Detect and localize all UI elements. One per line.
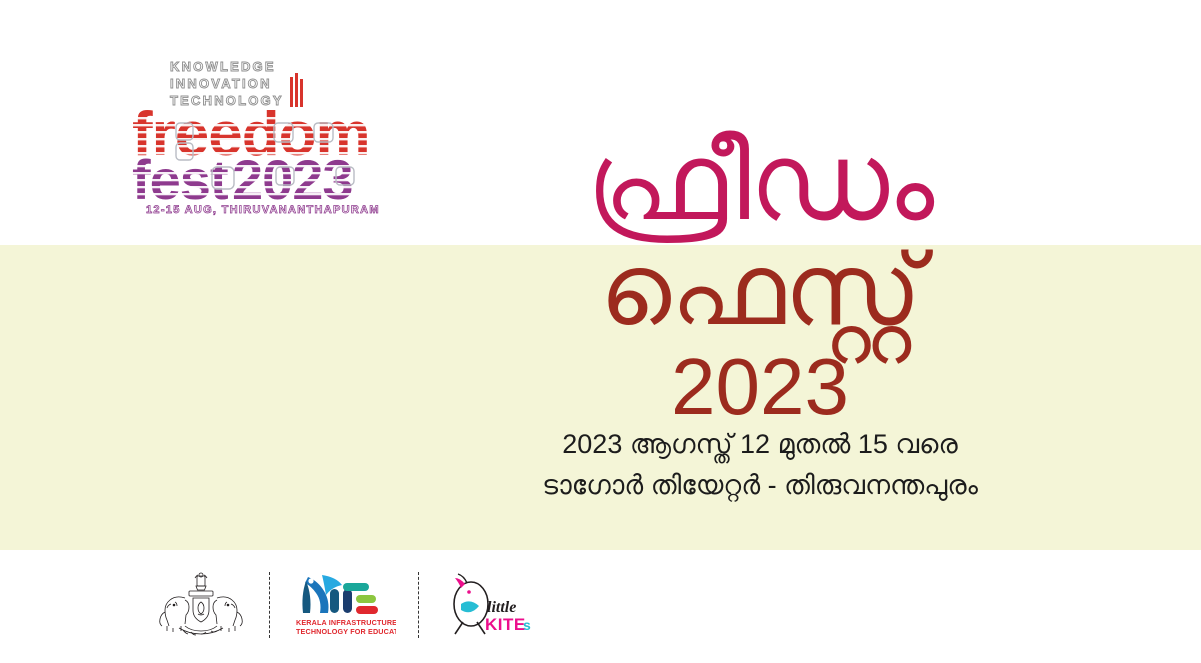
footer-divider-1 — [269, 572, 270, 638]
little-kites-text-little: little — [487, 599, 516, 616]
title-year: 2023 — [450, 347, 1070, 427]
kerala-government-emblem-logo — [155, 569, 247, 641]
logo-tagline-knowledge: KNOWLEDGE — [170, 59, 276, 74]
little-kites-text-kite: KITE — [485, 615, 526, 634]
emblem-wreath-base — [179, 626, 223, 635]
emblem-elephant-left — [160, 597, 189, 632]
freedom-fest-logo: KNOWLEDGE INNOVATION TECHNOLOGY freedom — [124, 55, 408, 217]
kite-tagline-line2: TECHNOLOGY FOR EDUCATION — [296, 627, 396, 636]
footer-divider-2 — [418, 572, 419, 638]
little-kites-text-s: s — [523, 617, 531, 633]
kite-logo: KERALA INFRASTRUCTURE AND TECHNOLOGY FOR… — [292, 569, 396, 641]
little-kites-bird-icon — [454, 574, 488, 634]
title-line-freedom: ഫ്രീഡം — [450, 128, 1070, 236]
logo-wordmark-fest-2023: fest 2023 — [132, 148, 382, 211]
emblem-elephant-right — [213, 597, 242, 632]
emblem-central-shield — [193, 598, 209, 622]
subtitle-dates: 2023 ആഗസ്ത് 12 മുതൽ 15 വരെ — [450, 424, 1070, 465]
logo-tagline-innovation: INNOVATION — [170, 76, 272, 91]
emblem-motto-band — [189, 591, 213, 596]
kite-bars-mark — [330, 583, 378, 614]
subtitle-venue: ടാഗോർ തിയേറ്റർ - തിരുവനന്തപുരം — [450, 465, 1070, 506]
emblem-ashoka-capital — [195, 573, 207, 590]
little-kites-logo: little KITE s — [441, 569, 533, 641]
subtitle-block: 2023 ആഗസ്ത് 12 മുതൽ 15 വരെ ടാഗോർ തിയേറ്റ… — [450, 424, 1070, 505]
main-title-block: ഫ്രീഡം ഫെസ്റ്റ് 2023 — [450, 128, 1070, 427]
title-line-fest: ഫെസ്റ്റ് — [450, 238, 1070, 343]
footer-logo-bar: KERALA INFRASTRUCTURE AND TECHNOLOGY FOR… — [0, 560, 1201, 650]
kite-tagline-line1: KERALA INFRASTRUCTURE AND — [296, 618, 396, 627]
logo-footer-text: 12-15 AUG, THIRUVANANTHAPURAM — [146, 204, 380, 216]
